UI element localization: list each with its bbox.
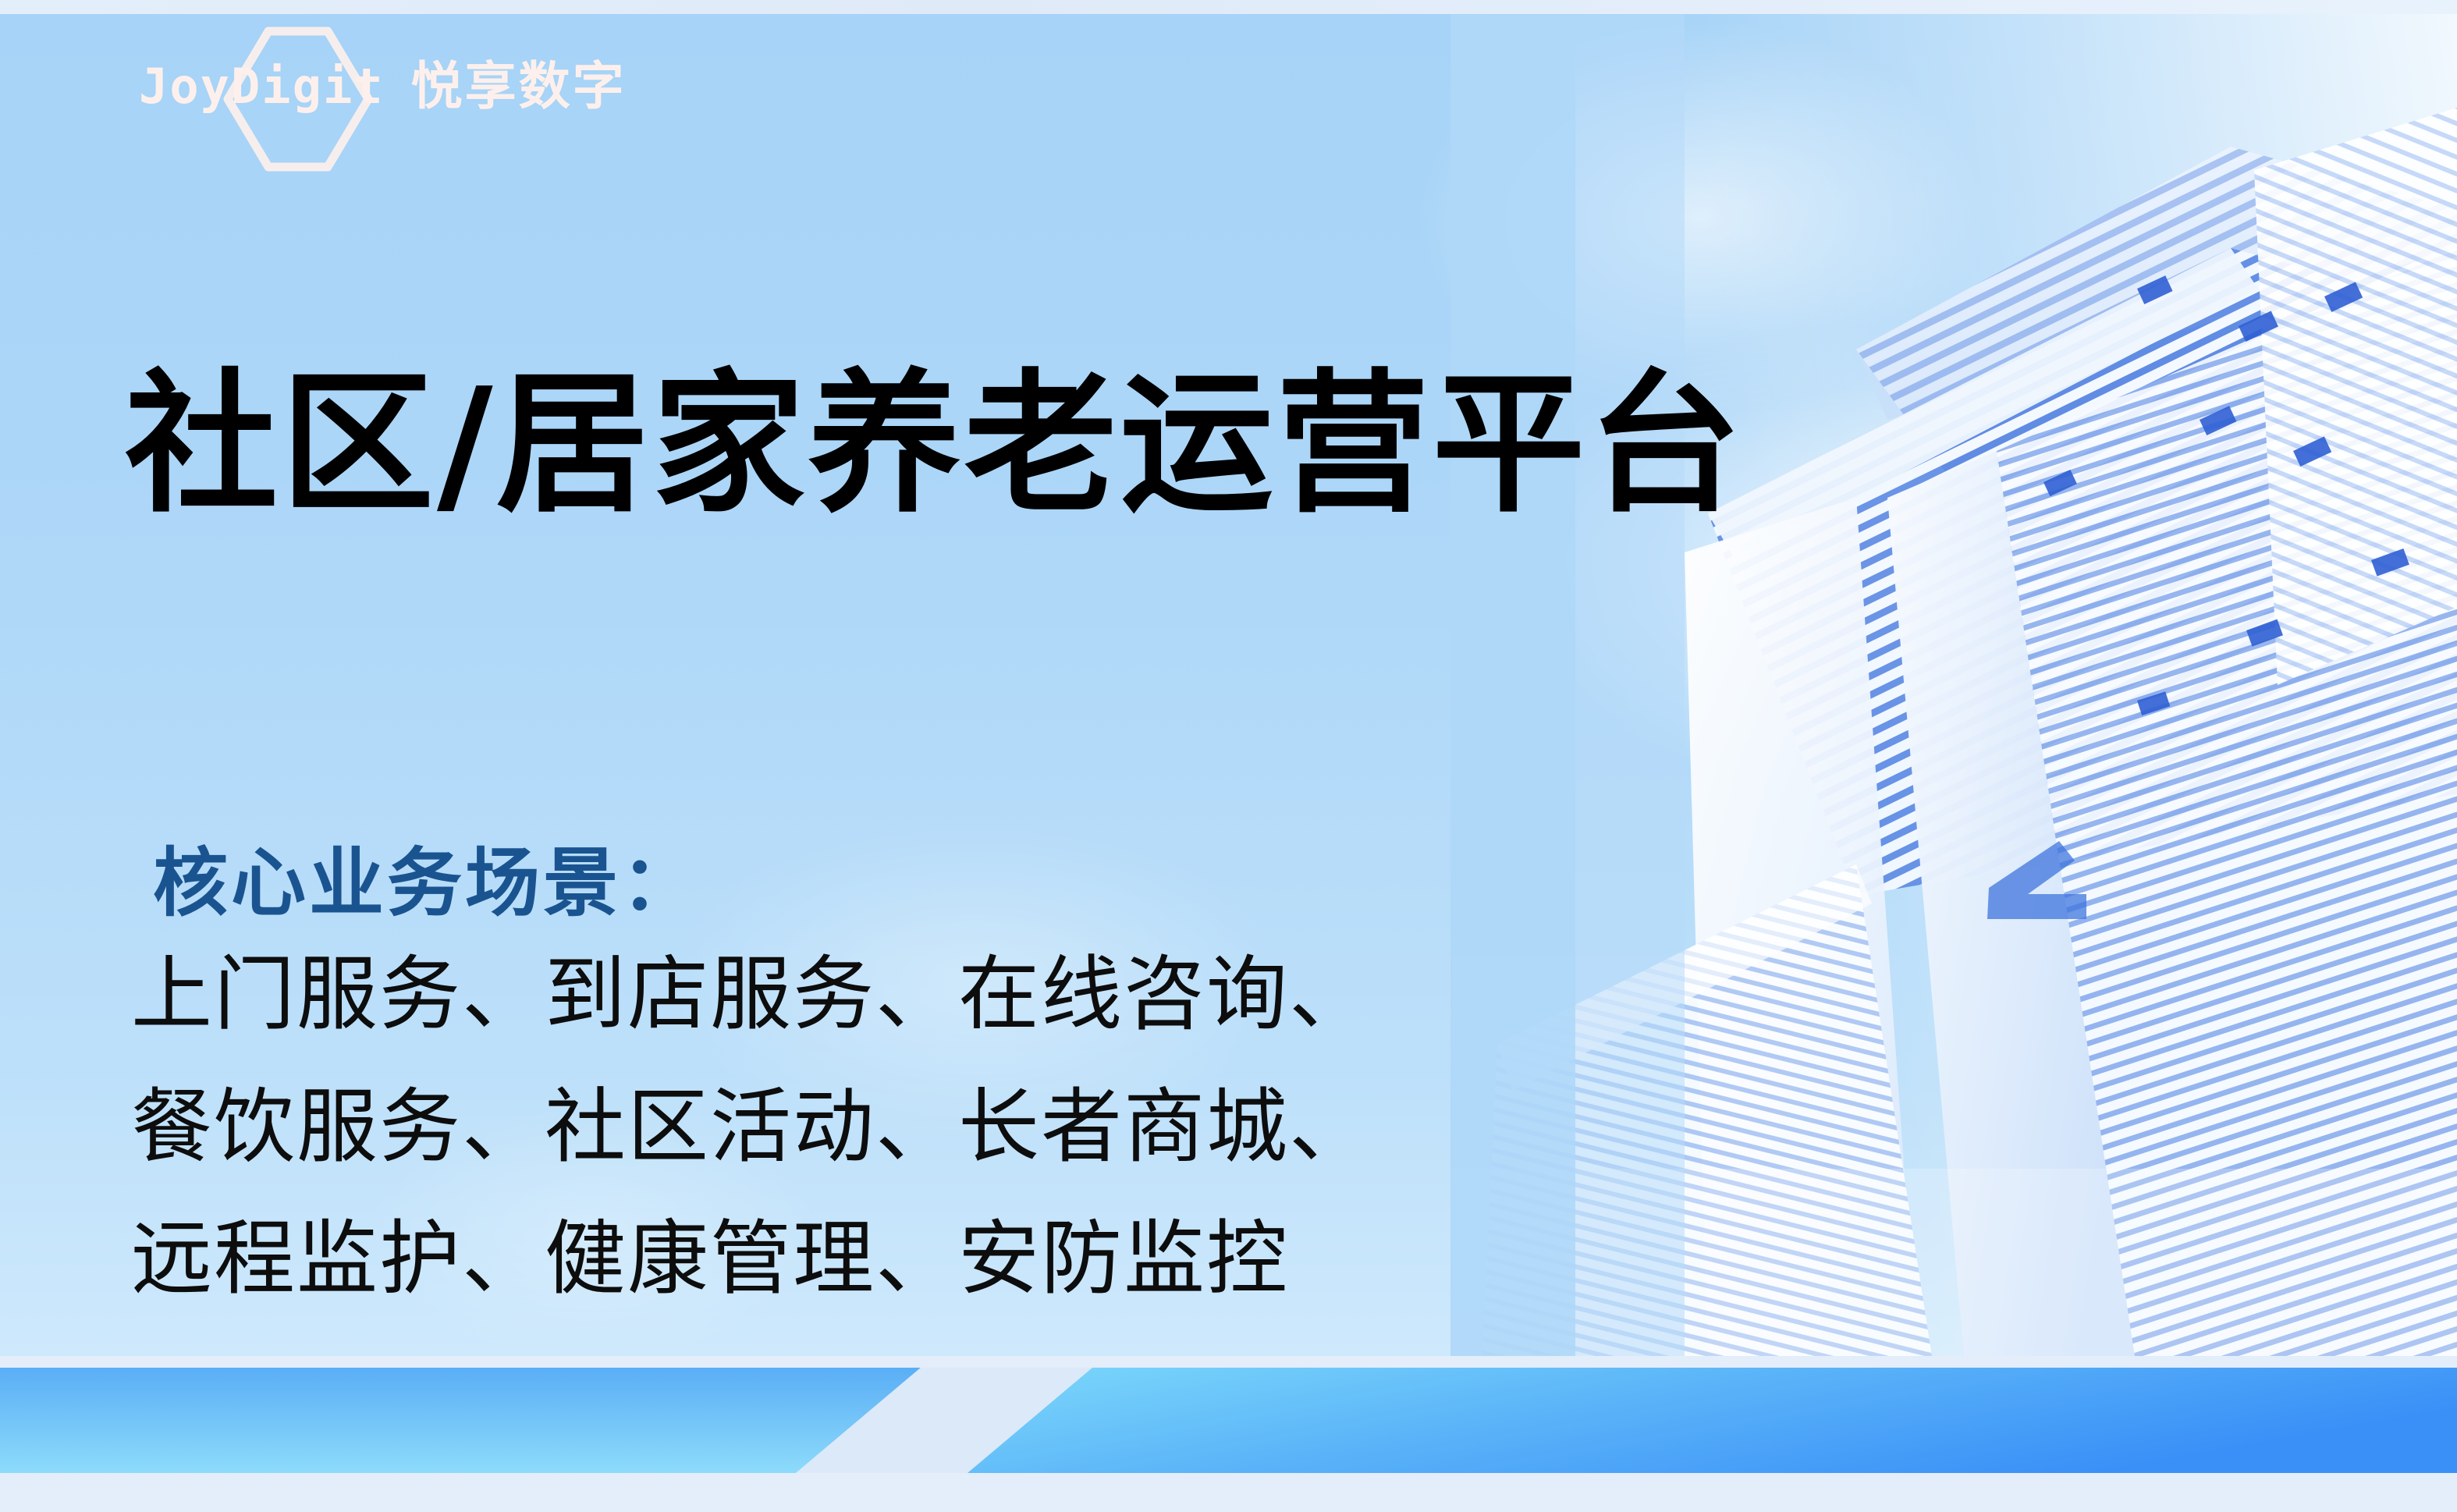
page-title: 社区/居家养老运营平台 — [125, 360, 1745, 531]
top-accent-strip — [0, 0, 2457, 14]
scenario-line-3: 远程监护、健康管理、安防监控 — [131, 1193, 1372, 1326]
brand-chinese-name: 悦享数字 — [411, 61, 627, 112]
scenario-list: 上门服务、到店服务、在线咨询、 餐饮服务、社区活动、长者商城、 远程监护、健康管… — [131, 928, 1372, 1326]
skyscraper-photo — [1450, 14, 2457, 1372]
scenario-line-1: 上门服务、到店服务、在线咨询、 — [131, 928, 1372, 1061]
scenario-line-2: 餐饮服务、社区活动、长者商城、 — [131, 1061, 1372, 1194]
brand-logo[interactable]: JoyDigit 悦享数字 — [139, 61, 627, 112]
brand-wordmark: JoyDigit — [139, 62, 385, 111]
slide-root: JoyDigit 悦享数字 社区/居家养老运营平台 核心业务场景： 上门服务、到… — [0, 0, 2457, 1512]
bottom-diagonal-band — [0, 1356, 2457, 1512]
section-heading: 核心业务场景： — [153, 843, 699, 925]
